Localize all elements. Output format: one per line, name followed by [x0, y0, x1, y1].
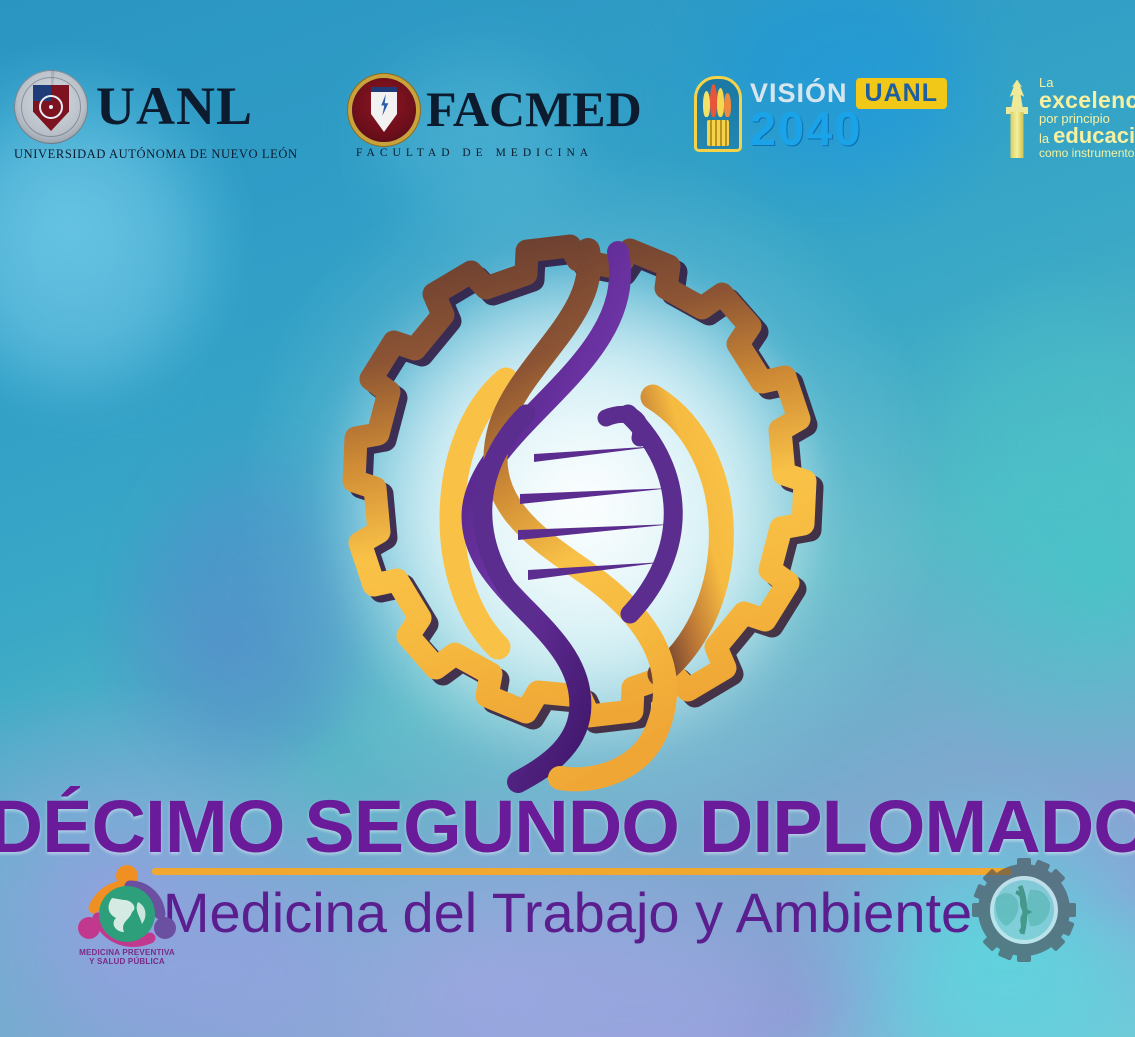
logo-uanl: UANL UNIVERSIDAD AUTÓNOMA DE NUEVO LEÓN: [14, 70, 298, 162]
torch-flame-icon: [694, 76, 742, 152]
logo-vision-uanl-2040: VISIÓN UANL 2040: [694, 76, 947, 152]
page-title: DÉCIMO SEGUNDO DIPLOMADO: [0, 784, 1135, 869]
gear-map-caduceus-icon: [968, 858, 1080, 962]
uanl-seal-icon: [14, 70, 88, 144]
title-divider-rule: [152, 868, 1012, 875]
torch-column-icon: [1002, 78, 1032, 158]
vision-year: 2040: [750, 107, 947, 150]
logo-facmed: FACMED FACULTAD DE MEDICINA: [352, 78, 642, 159]
badge-sociedad-gear: [968, 858, 1080, 962]
facmed-subtitle: FACULTAD DE MEDICINA: [356, 147, 593, 159]
badge-medicina-preventiva-text: MEDICINA PREVENTIVA Y SALUD PÚBLICA: [68, 948, 186, 966]
excelencia-line2: excelencia: [1039, 89, 1135, 112]
logo-excelencia: La excelencia por principio la educación…: [1002, 76, 1135, 159]
uanl-wordmark: UANL: [96, 81, 253, 132]
uanl-subtitle: UNIVERSIDAD AUTÓNOMA DE NUEVO LEÓN: [14, 147, 298, 162]
header-logo-bar: UANL UNIVERSIDAD AUTÓNOMA DE NUEVO LEÓN …: [0, 0, 1135, 180]
vision-uanl-badge: UANL: [856, 78, 947, 109]
excelencia-line4: la: [1039, 132, 1049, 145]
poster-canvas: UANL UNIVERSIDAD AUTÓNOMA DE NUEVO LEÓN …: [0, 0, 1135, 1037]
badge-medicina-preventiva: MEDICINA PREVENTIVA Y SALUD PÚBLICA: [68, 862, 186, 966]
gear-dna-emblem: [288, 222, 868, 798]
globe-people-icon: [68, 862, 186, 954]
facmed-wordmark: FACMED: [426, 86, 642, 134]
facmed-seal-icon: [352, 78, 416, 142]
excelencia-line6: como instrumento: [1039, 147, 1135, 159]
excelencia-line5: educación: [1053, 125, 1135, 147]
